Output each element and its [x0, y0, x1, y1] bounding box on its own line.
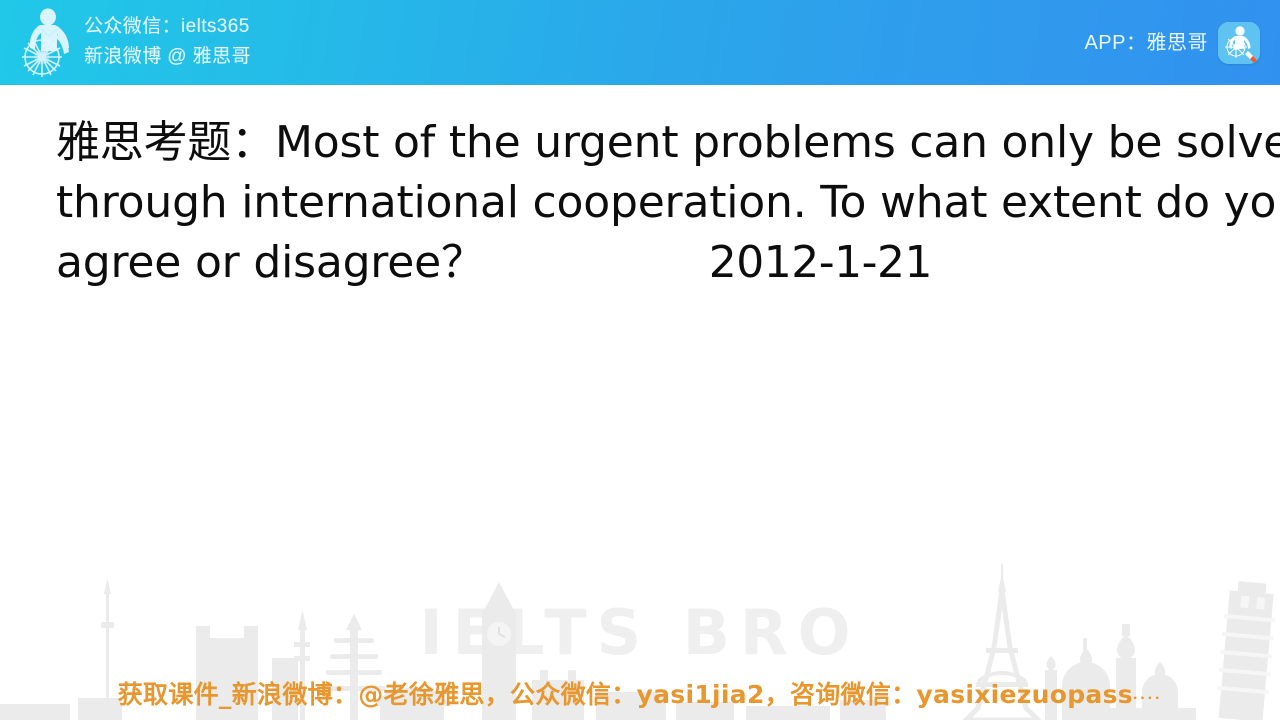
app-label: APP：雅思哥	[1084, 31, 1208, 55]
brand-weibo-line: 新浪微博 @ 雅思哥	[84, 42, 251, 72]
app-badge-icon[interactable]	[1218, 22, 1260, 64]
watermark-wordmark: IELTS BRO	[0, 602, 1280, 664]
ship-wheel-logo-icon	[14, 4, 76, 80]
question-line-1: 雅思考题：Most of the urgent problems can onl…	[56, 113, 1228, 173]
brand-header-banner: 公众微信：ielts365 新浪微博 @ 雅思哥 APP：雅思哥	[0, 0, 1280, 85]
brand-wechat-line: 公众微信：ielts365	[84, 12, 251, 42]
question-line-3-row: agree or disagree？ 2012-1-21	[56, 233, 1228, 293]
slide-content-area: 雅思考题：Most of the urgent problems can onl…	[0, 85, 1280, 720]
exam-date: 2012-1-21	[709, 233, 932, 293]
header-app-group[interactable]: APP：雅思哥	[1084, 22, 1260, 64]
question-text-block: 雅思考题：Most of the urgent problems can onl…	[56, 113, 1228, 293]
question-line-3: agree or disagree？	[56, 233, 485, 293]
footer-contact-text: 获取课件_新浪微博：@老徐雅思，公众微信：yasi1jia2，咨询微信：yasi…	[118, 678, 1133, 712]
question-line-2: through international cooperation. To wh…	[56, 173, 1228, 233]
brand-text-block: 公众微信：ielts365 新浪微博 @ 雅思哥	[84, 6, 251, 78]
footer-contact-bar: 获取课件_新浪微博：@老徐雅思，公众微信：yasi1jia2，咨询微信：yasi…	[0, 678, 1280, 712]
footer-trailing-dots: ····	[1133, 690, 1162, 707]
header-brand-group: 公众微信：ielts365 新浪微博 @ 雅思哥	[14, 4, 251, 80]
